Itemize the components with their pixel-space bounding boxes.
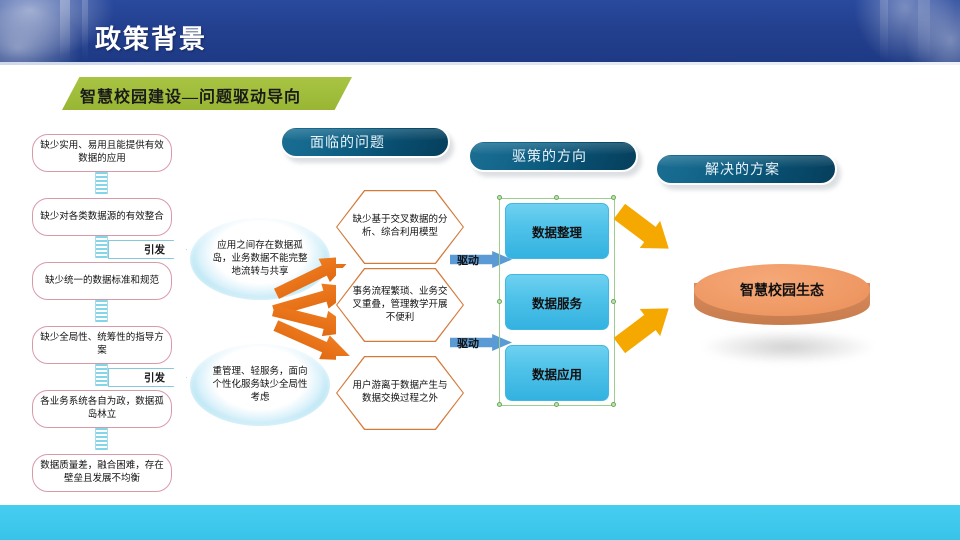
problem-box-text: 缺少全局性、统筹性的指导方案 [39, 332, 165, 358]
pill-body: 解决的方案 [655, 153, 837, 185]
selection-handle[interactable] [611, 402, 616, 407]
solution-block[interactable]: 数据整理 [505, 203, 609, 259]
header-underline [0, 62, 960, 65]
chevron-right-icon [173, 240, 187, 259]
dotted-connector [95, 236, 108, 258]
trigger-label: 引发 [144, 242, 165, 257]
cloud-streak [60, 0, 70, 62]
pill-body: 驱策的方向 [468, 140, 638, 172]
problem-box-text: 数据质量差，融合困难，存在壁垒且发展不均衡 [39, 460, 165, 486]
drive-label: 驱动 [457, 335, 479, 351]
selection-handle[interactable] [497, 195, 502, 200]
issue-ellipse-text: 应用之间存在数据孤岛，业务数据不能完整地流转与共享 [208, 240, 312, 279]
direction-hexagon-text: 用户游离于数据产生与数据交换过程之外 [349, 380, 451, 406]
issue-ellipse-text: 重管理、轻服务，面向个性化服务缺少全局性考虑 [208, 366, 312, 405]
solution-block-label: 数据整理 [532, 222, 582, 241]
outcome-ellipse[interactable]: 智慧校园生态 [694, 264, 870, 316]
trigger-label: 引发 [144, 370, 165, 385]
chevron-right-icon [173, 368, 187, 387]
solution-block-label: 数据服务 [532, 293, 582, 312]
problem-box[interactable]: 缺少全局性、统筹性的指导方案 [32, 326, 172, 364]
slide-footer-bar [0, 505, 960, 540]
problem-box-text: 各业务系统各自为政，数据孤岛林立 [39, 396, 165, 422]
cloud-streak [918, 0, 930, 62]
solution-block[interactable]: 数据服务 [505, 274, 609, 330]
drive-label: 驱动 [457, 252, 479, 268]
dotted-connector [95, 364, 108, 386]
direction-hexagon-text: 事务流程繁琐、业务交叉重叠，管理教学开展不便利 [349, 286, 451, 325]
problem-box-text: 缺少统一的数据标准和规范 [45, 275, 159, 288]
column-banner-problems[interactable]: 面临的问题 [280, 126, 450, 158]
issue-ellipse[interactable]: 重管理、轻服务，面向个性化服务缺少全局性考虑 [190, 344, 330, 426]
problem-box[interactable]: 各业务系统各自为政，数据孤岛林立 [32, 390, 172, 428]
solution-group[interactable]: 数据整理 数据服务 数据应用 [505, 203, 609, 401]
column-banner-label: 驱策的方向 [512, 146, 587, 166]
selection-handle[interactable] [497, 299, 502, 304]
cloud-streak [880, 0, 888, 62]
column-banner-direction[interactable]: 驱策的方向 [468, 140, 638, 172]
yellow-flow-arrow [609, 198, 679, 262]
selection-handle[interactable] [554, 402, 559, 407]
problem-box[interactable]: 缺少实用、易用且能提供有效数据的应用 [32, 134, 172, 172]
selection-handle[interactable] [497, 402, 502, 407]
problem-box[interactable]: 缺少统一的数据标准和规范 [32, 262, 172, 300]
outcome-label: 智慧校园生态 [740, 280, 824, 300]
column-banner-label: 解决的方案 [705, 159, 780, 179]
problem-box[interactable]: 缺少对各类数据源的有效整合 [32, 198, 172, 236]
direction-hexagon[interactable]: 用户游离于数据产生与数据交换过程之外 [336, 356, 464, 430]
outcome-shadow [700, 330, 876, 364]
cloud-streak [82, 0, 88, 62]
yellow-flow-arrow [609, 295, 679, 359]
direction-hexagon-text: 缺少基于交叉数据的分析、综合利用模型 [349, 214, 451, 240]
selection-handle[interactable] [611, 299, 616, 304]
direction-hexagon[interactable]: 缺少基于交叉数据的分析、综合利用模型 [336, 190, 464, 264]
dotted-connector [95, 428, 108, 450]
pill-body: 面临的问题 [280, 126, 450, 158]
section-banner-label: 智慧校园建设—问题驱动导向 [80, 83, 301, 107]
solution-block-label: 数据应用 [532, 364, 582, 383]
selection-handle[interactable] [554, 195, 559, 200]
column-banner-solution[interactable]: 解决的方案 [655, 153, 837, 185]
issue-ellipse[interactable]: 应用之间存在数据孤岛，业务数据不能完整地流转与共享 [190, 218, 330, 300]
selection-handle[interactable] [611, 195, 616, 200]
solution-block[interactable]: 数据应用 [505, 345, 609, 401]
direction-hexagon[interactable]: 事务流程繁琐、业务交叉重叠，管理教学开展不便利 [336, 268, 464, 342]
page-title: 政策背景 [95, 19, 207, 56]
column-banner-label: 面临的问题 [310, 132, 385, 152]
problem-box-text: 缺少实用、易用且能提供有效数据的应用 [39, 140, 165, 166]
dotted-connector [95, 172, 108, 194]
problem-box-text: 缺少对各类数据源的有效整合 [40, 211, 164, 224]
problem-box[interactable]: 数据质量差，融合困难，存在壁垒且发展不均衡 [32, 454, 172, 492]
dotted-connector [95, 300, 108, 322]
